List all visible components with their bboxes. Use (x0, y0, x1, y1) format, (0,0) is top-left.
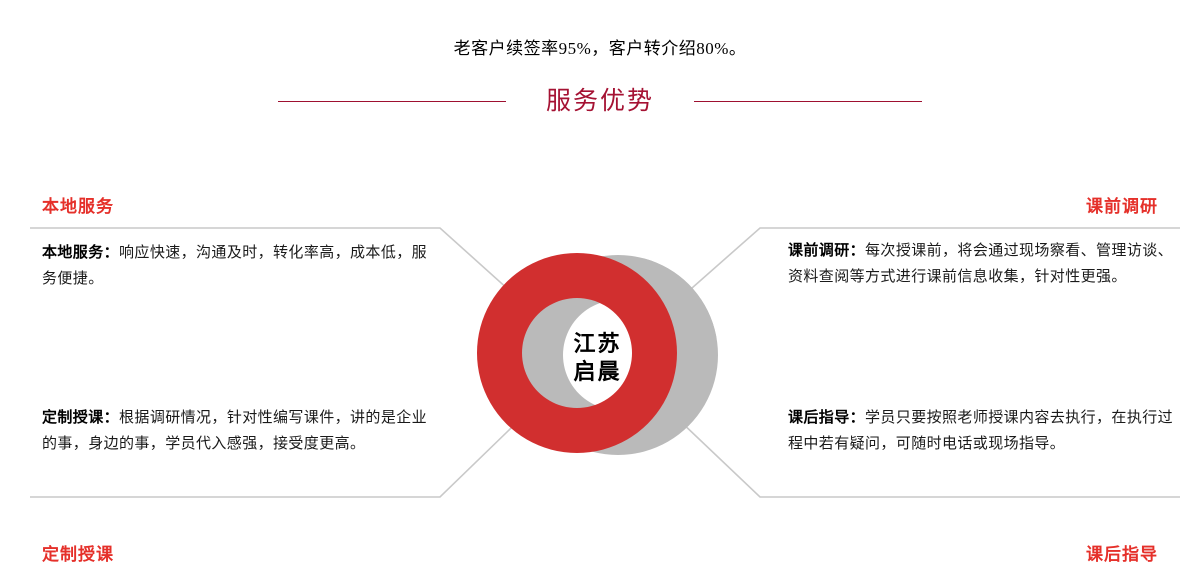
section-title: 服务优势 (546, 89, 654, 114)
quadrant-heading-bottom-left: 定制授课 (42, 540, 114, 565)
quadrant-lead-top-left: 本地服务： (42, 244, 119, 261)
quadrant-body-bottom-right: 课后指导：学员只要按照老师授课内容去执行，在执行过程中若有疑问，可随时电话或现场… (788, 405, 1178, 457)
section-title-row: 服务优势 (0, 84, 1200, 118)
quadrant-body-bottom-left: 定制授课：根据调研情况，针对性编写课件，讲的是企业的事，身边的事，学员代入感强，… (42, 405, 442, 457)
quadrant-heading-bottom-right: 课后指导 (1086, 540, 1158, 565)
red-ring (477, 253, 677, 453)
quadrant-heading-top-right: 课前调研 (1086, 192, 1158, 217)
quadrant-lead-bottom-right: 课后指导： (788, 409, 865, 426)
quadrant-lead-bottom-left: 定制授课： (42, 409, 119, 426)
quadrant-body-top-right: 课前调研：每次授课前，将会通过现场察看、管理访谈、资料查阅等方式进行课前信息收集… (788, 238, 1178, 290)
center-ring-graphic (455, 215, 740, 500)
title-rule-right (694, 101, 922, 102)
title-rule-left (278, 101, 506, 102)
quadrant-heading-top-left: 本地服务 (42, 192, 114, 217)
quadrant-body-top-left: 本地服务：响应快速，沟通及时，转化率高，成本低，服务便捷。 (42, 240, 432, 292)
page-tagline: 老客户续签率95%，客户转介绍80%。 (0, 34, 1200, 59)
quadrant-lead-top-right: 课前调研： (788, 242, 865, 259)
